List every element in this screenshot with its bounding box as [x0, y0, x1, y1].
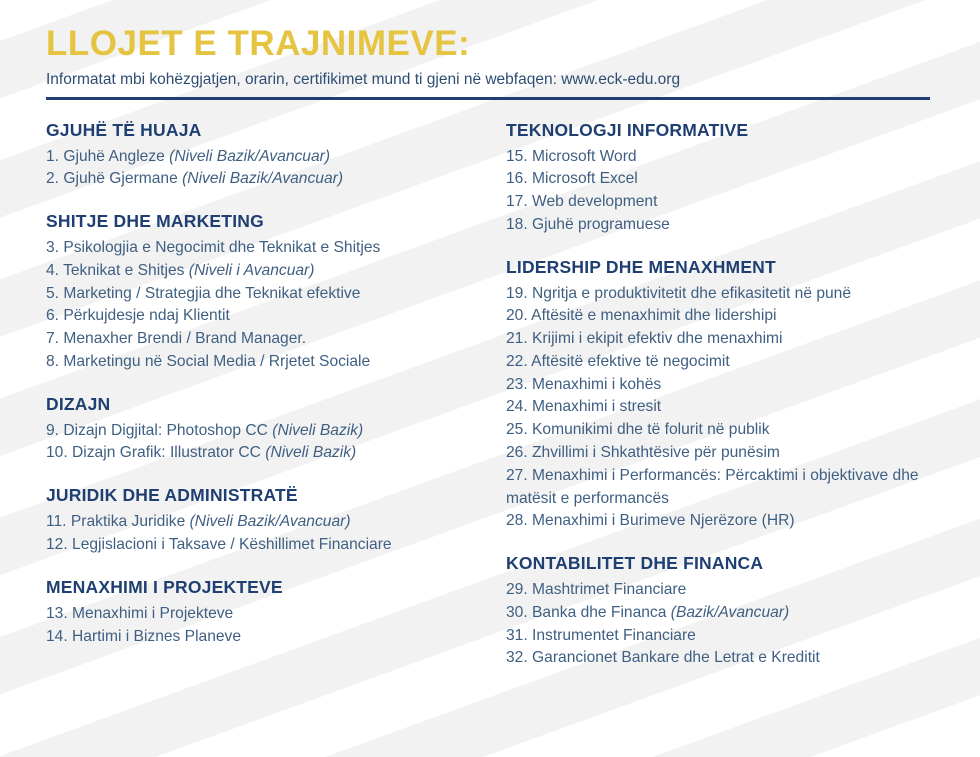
course-level: (Niveli i Avancuar)	[189, 262, 315, 279]
course-name: Menaxher Brendi / Brand Manager.	[63, 330, 306, 347]
course-number: 25.	[506, 421, 528, 438]
course-list-item: 9. Dizajn Digjital: Photoshop CC (Niveli…	[46, 420, 506, 443]
course-number: 32.	[506, 649, 528, 666]
course-level: (Niveli Bazik/Avancuar)	[182, 170, 343, 187]
course-list-item: 4. Teknikat e Shitjes (Niveli i Avancuar…	[46, 260, 506, 283]
right-column: TEKNOLOGJI INFORMATIVE15. Microsoft Word…	[506, 120, 946, 671]
course-number: 15.	[506, 148, 528, 165]
course-section: JURIDIK DHE ADMINISTRATË11. Praktika Jur…	[46, 485, 506, 557]
course-number: 13.	[46, 605, 68, 622]
course-name: Menaxhimi i Burimeve Njerëzore (HR)	[532, 512, 795, 529]
left-column: GJUHË TË HUAJA1. Gjuhë Angleze (Niveli B…	[46, 120, 506, 671]
course-list-item: 20. Aftësitë e menaxhimit dhe lidershipi	[506, 305, 946, 328]
course-name: Gjuhë Angleze	[63, 148, 169, 165]
course-name: Microsoft Word	[532, 148, 637, 165]
course-list-item: 29. Mashtrimet Financiare	[506, 579, 946, 602]
section-title: LIDERSHIP DHE MENAXHMENT	[506, 257, 946, 278]
section-title: SHITJE DHE MARKETING	[46, 211, 506, 232]
course-number: 29.	[506, 581, 528, 598]
course-list-item: 26. Zhvillimi i Shkathtësive për punësim	[506, 442, 946, 465]
course-level: (Bazik/Avancuar)	[671, 604, 789, 621]
section-title: KONTABILITET DHE FINANCA	[506, 553, 946, 574]
course-list-item: 1. Gjuhë Angleze (Niveli Bazik/Avancuar)	[46, 146, 506, 169]
course-section: KONTABILITET DHE FINANCA29. Mashtrimet F…	[506, 553, 946, 670]
course-list-item: 27. Menaxhimi i Performancës: Përcaktimi…	[506, 465, 946, 511]
course-list-item: 3. Psikologjia e Negocimit dhe Teknikat …	[46, 237, 506, 260]
course-list-item: 31. Instrumentet Financiare	[506, 625, 946, 648]
course-list-item: 22. Aftësitë efektive të negocimit	[506, 351, 946, 374]
page-subtitle: Informatat mbi kohëzgjatjen, orarin, cer…	[46, 71, 934, 90]
course-list-item: 17. Web development	[506, 191, 946, 214]
page-header: LLOJET E TRAJNIMEVE: Informatat mbi kohë…	[0, 0, 980, 100]
course-number: 11.	[46, 513, 67, 530]
course-list-item: 11. Praktika Juridike (Niveli Bazik/Avan…	[46, 511, 506, 534]
course-list-item: 7. Menaxher Brendi / Brand Manager.	[46, 328, 506, 351]
course-list-item: 28. Menaxhimi i Burimeve Njerëzore (HR)	[506, 510, 946, 533]
course-number: 3.	[46, 239, 59, 256]
course-list-item: 16. Microsoft Excel	[506, 168, 946, 191]
course-section: DIZAJN9. Dizajn Digjital: Photoshop CC (…	[46, 394, 506, 466]
course-name: Dizajn Digjital: Photoshop CC	[63, 422, 272, 439]
course-section: MENAXHIMI I PROJEKTEVE13. Menaxhimi i Pr…	[46, 577, 506, 649]
section-title: MENAXHIMI I PROJEKTEVE	[46, 577, 506, 598]
course-number: 18.	[506, 216, 528, 233]
course-number: 12.	[46, 536, 68, 553]
course-number: 27.	[506, 467, 528, 484]
course-name: Hartimi i Biznes Planeve	[72, 628, 241, 645]
section-title: JURIDIK DHE ADMINISTRATË	[46, 485, 506, 506]
course-number: 28.	[506, 512, 528, 529]
course-name: Marketingu në Social Media / Rrjetet Soc…	[63, 353, 370, 370]
course-number: 2.	[46, 170, 59, 187]
course-number: 6.	[46, 307, 59, 324]
course-number: 10.	[46, 444, 68, 461]
course-number: 16.	[506, 170, 528, 187]
course-list-item: 18. Gjuhë programuese	[506, 214, 946, 237]
section-title: GJUHË TË HUAJA	[46, 120, 506, 141]
course-list-item: 6. Përkujdesje ndaj Klientit	[46, 305, 506, 328]
course-name: Psikologjia e Negocimit dhe Teknikat e S…	[63, 239, 380, 256]
course-list-item: 23. Menaxhimi i kohës	[506, 374, 946, 397]
course-name: Teknikat e Shitjes	[63, 262, 189, 279]
course-name: Menaxhimi i Performancës: Përcaktimi i o…	[506, 467, 919, 507]
course-number: 22.	[506, 353, 528, 370]
course-name: Aftësitë e menaxhimit dhe lidershipi	[531, 307, 776, 324]
course-name: Aftësitë efektive të negocimit	[531, 353, 730, 370]
course-list-item: 30. Banka dhe Financa (Bazik/Avancuar)	[506, 602, 946, 625]
section-title: TEKNOLOGJI INFORMATIVE	[506, 120, 946, 141]
course-list-item: 2. Gjuhë Gjermane (Niveli Bazik/Avancuar…	[46, 168, 506, 191]
course-list-item: 15. Microsoft Word	[506, 146, 946, 169]
course-number: 19.	[506, 285, 528, 302]
course-name: Zhvillimi i Shkathtësive për punësim	[532, 444, 780, 461]
course-name: Mashtrimet Financiare	[532, 581, 686, 598]
course-name: Komunikimi dhe të folurit në publik	[532, 421, 770, 438]
course-name: Menaxhimi i Projekteve	[72, 605, 233, 622]
course-number: 21.	[506, 330, 528, 347]
course-section: GJUHË TË HUAJA1. Gjuhë Angleze (Niveli B…	[46, 120, 506, 192]
course-number: 17.	[506, 193, 528, 210]
course-level: (Niveli Bazik)	[265, 444, 356, 461]
course-list-item: 13. Menaxhimi i Projekteve	[46, 603, 506, 626]
course-number: 9.	[46, 422, 59, 439]
page-content: LLOJET E TRAJNIMEVE: Informatat mbi kohë…	[0, 0, 980, 670]
course-level: (Niveli Bazik)	[272, 422, 363, 439]
page-title: LLOJET E TRAJNIMEVE:	[46, 26, 934, 61]
course-number: 31.	[506, 627, 528, 644]
course-list-item: 21. Krijimi i ekipit efektiv dhe menaxhi…	[506, 328, 946, 351]
course-number: 1.	[46, 148, 59, 165]
course-list-item: 12. Legjislacioni i Taksave / Këshillime…	[46, 534, 506, 557]
course-name: Krijimi i ekipit efektiv dhe menaxhimi	[532, 330, 782, 347]
course-number: 8.	[46, 353, 59, 370]
course-section: LIDERSHIP DHE MENAXHMENT19. Ngritja e pr…	[506, 257, 946, 533]
course-number: 26.	[506, 444, 528, 461]
course-name: Dizajn Grafik: Illustrator CC	[72, 444, 265, 461]
course-name: Legjislacioni i Taksave / Këshillimet Fi…	[72, 536, 392, 553]
course-list-item: 32. Garancionet Bankare dhe Letrat e Kre…	[506, 647, 946, 670]
course-level: (Niveli Bazik/Avancuar)	[169, 148, 330, 165]
training-types-page: LLOJET E TRAJNIMEVE: Informatat mbi kohë…	[0, 0, 980, 757]
course-number: 23.	[506, 376, 528, 393]
course-name: Menaxhimi i stresit	[532, 398, 661, 415]
course-level: (Niveli Bazik/Avancuar)	[190, 513, 351, 530]
course-name: Instrumentet Financiare	[532, 627, 696, 644]
course-name: Banka dhe Financa	[532, 604, 671, 621]
course-list-item: 5. Marketing / Strategjia dhe Teknikat e…	[46, 283, 506, 306]
course-name: Web development	[532, 193, 657, 210]
course-list-item: 10. Dizajn Grafik: Illustrator CC (Nivel…	[46, 442, 506, 465]
course-list-item: 14. Hartimi i Biznes Planeve	[46, 626, 506, 649]
course-section: TEKNOLOGJI INFORMATIVE15. Microsoft Word…	[506, 120, 946, 237]
course-name: Garancionet Bankare dhe Letrat e Krediti…	[532, 649, 820, 666]
course-name: Përkujdesje ndaj Klientit	[63, 307, 229, 324]
course-number: 14.	[46, 628, 68, 645]
course-list-item: 8. Marketingu në Social Media / Rrjetet …	[46, 351, 506, 374]
course-name: Praktika Juridike	[71, 513, 190, 530]
course-number: 4.	[46, 262, 59, 279]
columns-container: GJUHË TË HUAJA1. Gjuhë Angleze (Niveli B…	[0, 100, 980, 671]
course-number: 7.	[46, 330, 59, 347]
course-list-item: 25. Komunikimi dhe të folurit në publik	[506, 419, 946, 442]
course-name: Ngritja e produktivitetit dhe efikasitet…	[532, 285, 851, 302]
course-name: Microsoft Excel	[532, 170, 638, 187]
course-number: 5.	[46, 285, 59, 302]
course-name: Marketing / Strategjia dhe Teknikat efek…	[63, 285, 360, 302]
course-number: 30.	[506, 604, 528, 621]
course-number: 20.	[506, 307, 528, 324]
course-name: Menaxhimi i kohës	[532, 376, 661, 393]
course-list-item: 19. Ngritja e produktivitetit dhe efikas…	[506, 283, 946, 306]
course-name: Gjuhë Gjermane	[63, 170, 182, 187]
course-section: SHITJE DHE MARKETING3. Psikologjia e Neg…	[46, 211, 506, 374]
course-number: 24.	[506, 398, 528, 415]
course-list-item: 24. Menaxhimi i stresit	[506, 396, 946, 419]
course-name: Gjuhë programuese	[532, 216, 670, 233]
section-title: DIZAJN	[46, 394, 506, 415]
